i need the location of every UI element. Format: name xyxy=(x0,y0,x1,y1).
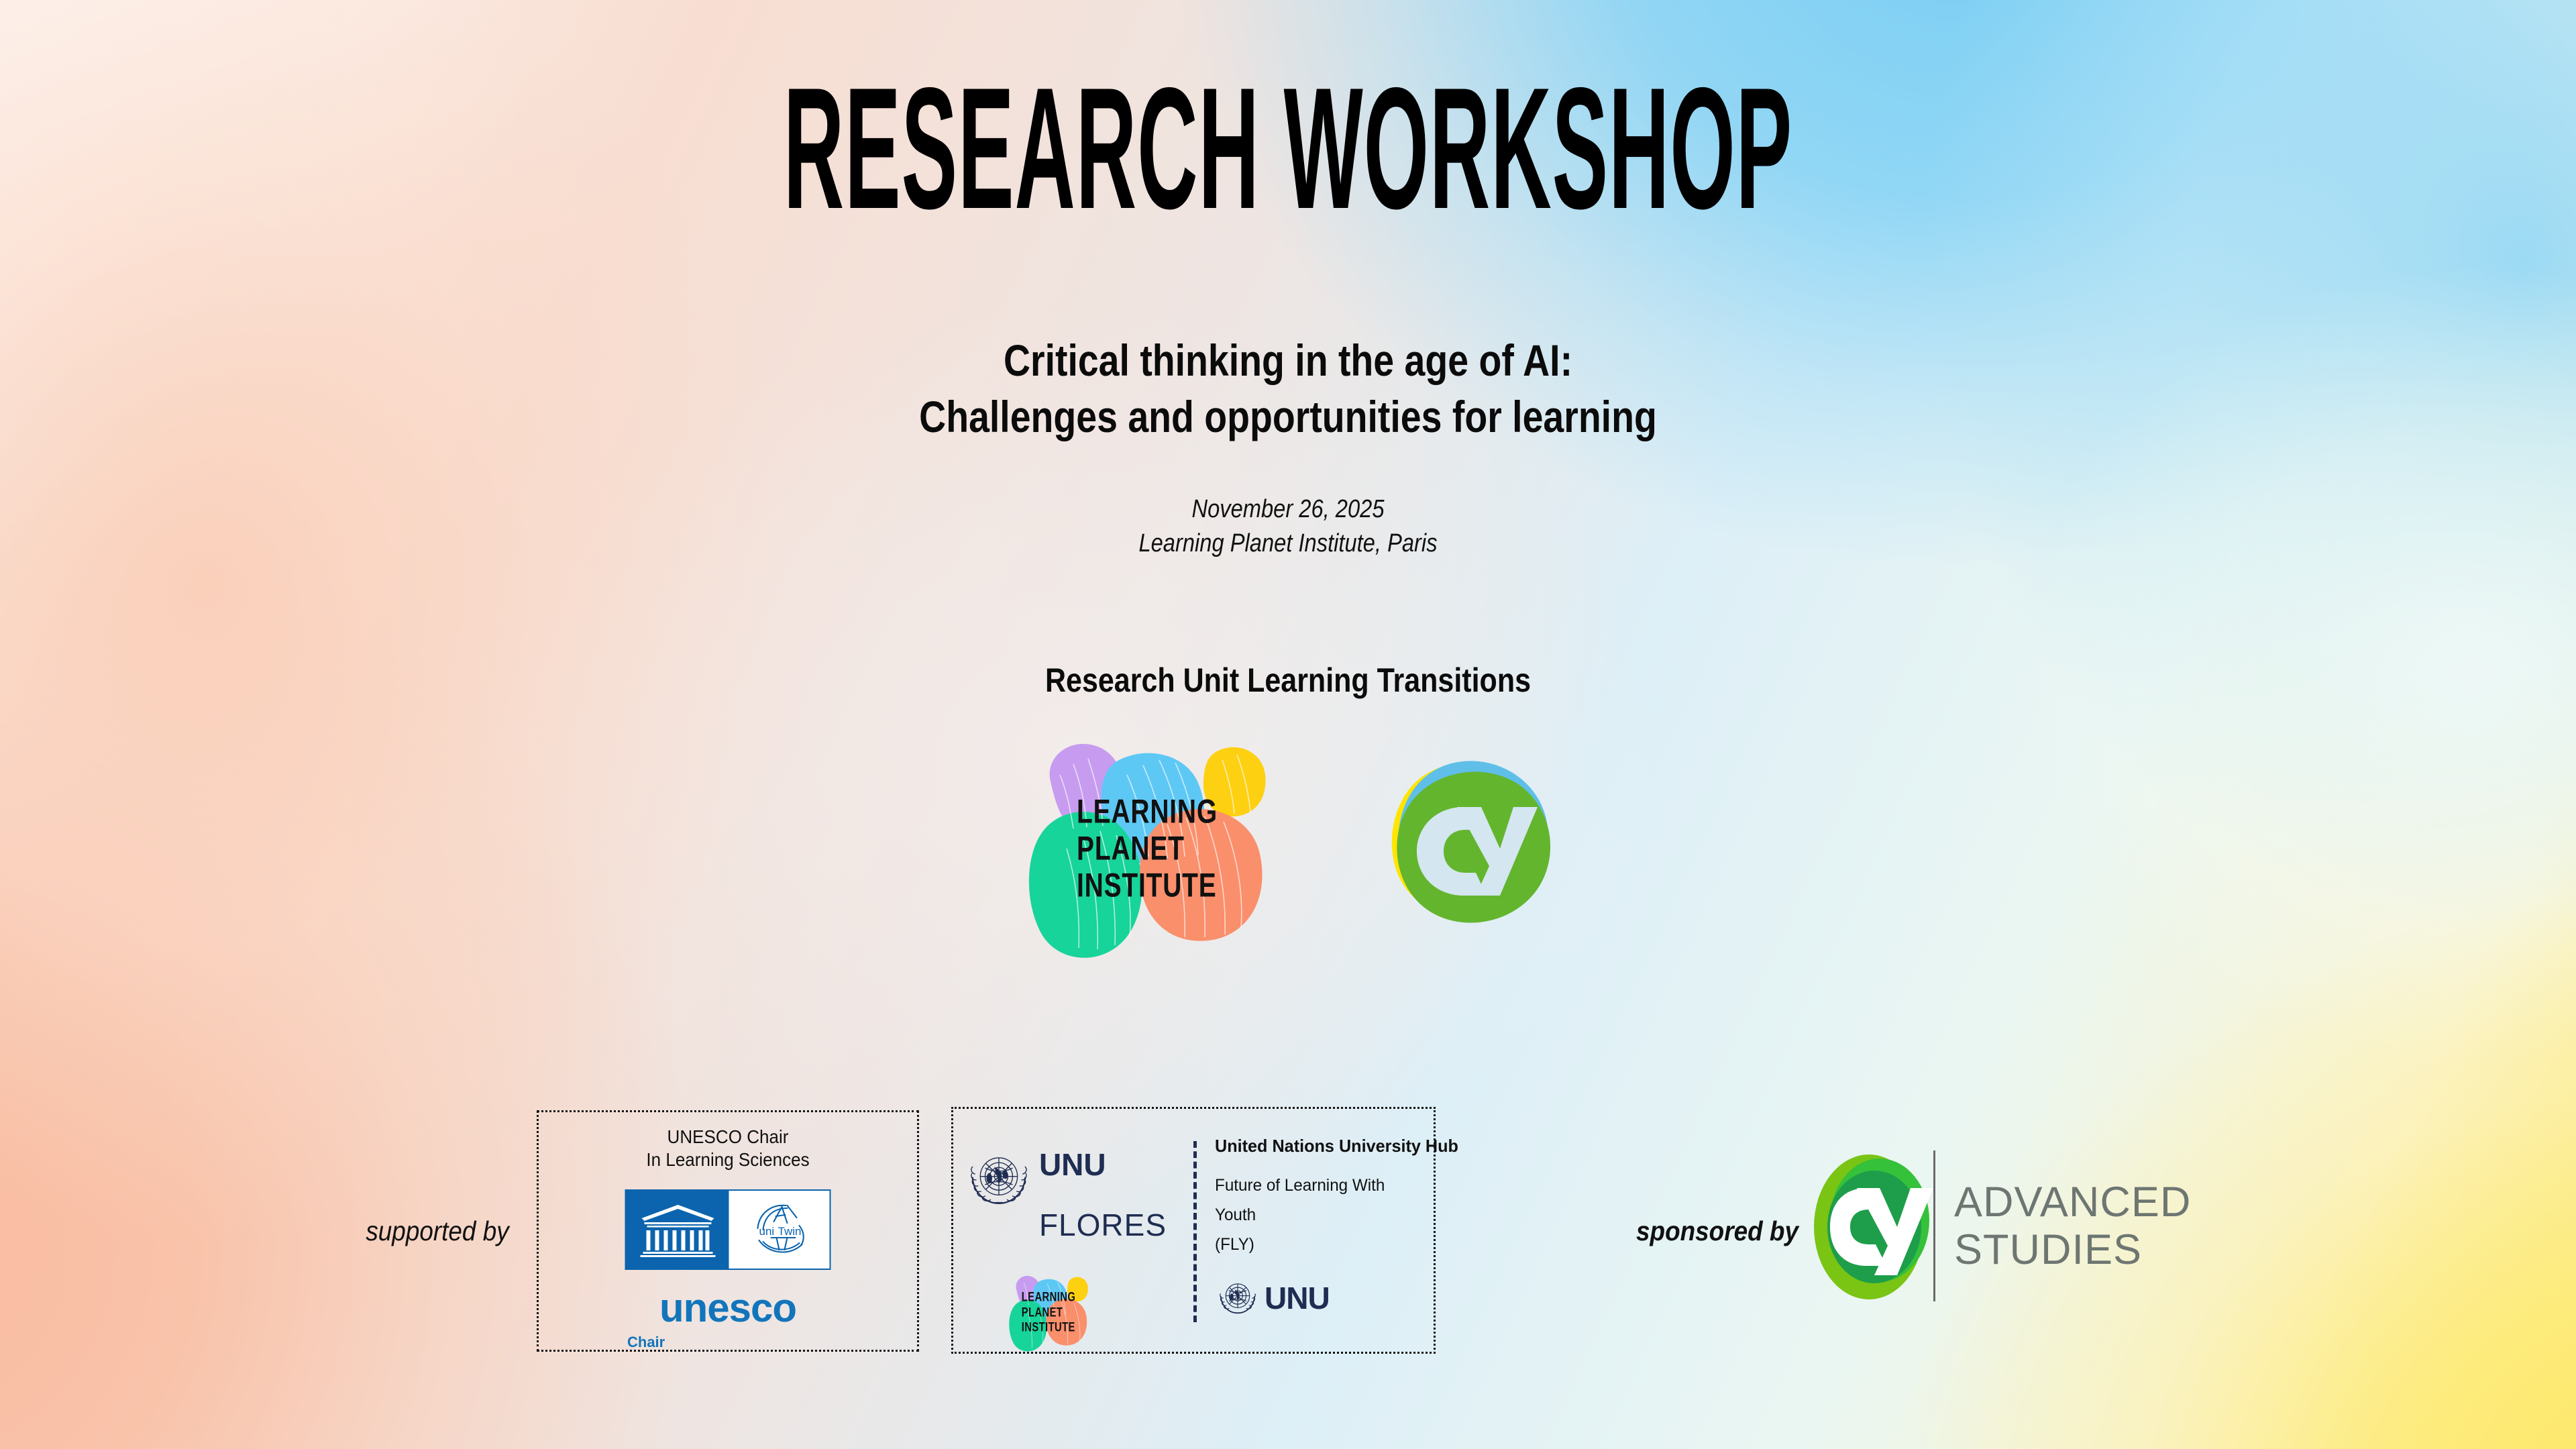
cy-roundel-icon xyxy=(1368,748,1570,949)
unesco-temple-icon xyxy=(627,1191,729,1269)
event-date: November 26, 2025 xyxy=(180,493,2396,526)
unu-card-lpi-logo: LEARNING PLANET INSTITUTE xyxy=(1002,1273,1095,1353)
unesco-emblem: uni Twin xyxy=(625,1189,831,1270)
supported-by-label: supported by xyxy=(353,1216,522,1247)
cy-logo xyxy=(1368,748,1570,949)
unesco-chair-card: UNESCO Chair In Learning Sciences xyxy=(537,1110,919,1352)
page-subtitle: Critical thinking in the age of AI: Chal… xyxy=(206,332,2370,445)
unit-logo-row: LEARNING PLANET INSTITUTE xyxy=(0,735,2576,963)
svg-text:Twin: Twin xyxy=(778,1225,802,1238)
lpi-wordmark: LEARNING PLANET INSTITUTE xyxy=(1077,794,1218,904)
sponsored-by-label: sponsored by xyxy=(1630,1216,1805,1247)
unu-logo: UNU xyxy=(1216,1277,1330,1320)
unu-programme: Future of Learning With Youth (FLY) xyxy=(1215,1171,1423,1259)
unesco-chair-heading: UNESCO Chair In Learning Sciences xyxy=(552,1126,904,1171)
unesco-chair-subline: Chair xyxy=(627,1334,665,1351)
research-unit-title: Research Unit Learning Transitions xyxy=(180,661,2396,700)
unu-hub-title: United Nations University Hub xyxy=(1215,1136,1423,1157)
unitwin-logo: uni Twin xyxy=(729,1191,830,1269)
unu-institute: FLORES xyxy=(1039,1207,1167,1242)
unu-hub-info: United Nations University Hub Future of … xyxy=(1215,1136,1430,1259)
united-nations-emblem-icon xyxy=(965,1142,1032,1218)
unu-acronym: UNU xyxy=(1039,1147,1106,1182)
cy-advanced-studies-logo: ADVANCED STUDIES xyxy=(1805,1144,2261,1308)
unesco-wordmark: unesco xyxy=(659,1288,796,1328)
unu-logo-text: UNU xyxy=(1265,1280,1330,1316)
cy-advanced-mark-icon xyxy=(1805,1144,1939,1308)
unu-card-lpi-wordmark: LEARNING PLANET INSTITUTE xyxy=(1022,1291,1076,1336)
unu-card-divider xyxy=(1193,1141,1197,1322)
unu-flores-branding: UNU FLORES xyxy=(965,1120,1167,1341)
event-venue: Learning Planet Institute, Paris xyxy=(180,527,2396,560)
united-nations-emblem-icon-small xyxy=(1216,1277,1259,1320)
svg-text:uni: uni xyxy=(759,1225,775,1238)
page-title: RESEARCH WORKSHOP xyxy=(663,62,1913,235)
unu-flores-card: UNU FLORES xyxy=(951,1107,1436,1354)
cy-advanced-studies-text: ADVANCED STUDIES xyxy=(1954,1179,2191,1273)
learning-planet-institute-logo: LEARNING PLANET INSTITUTE xyxy=(1006,735,1288,963)
